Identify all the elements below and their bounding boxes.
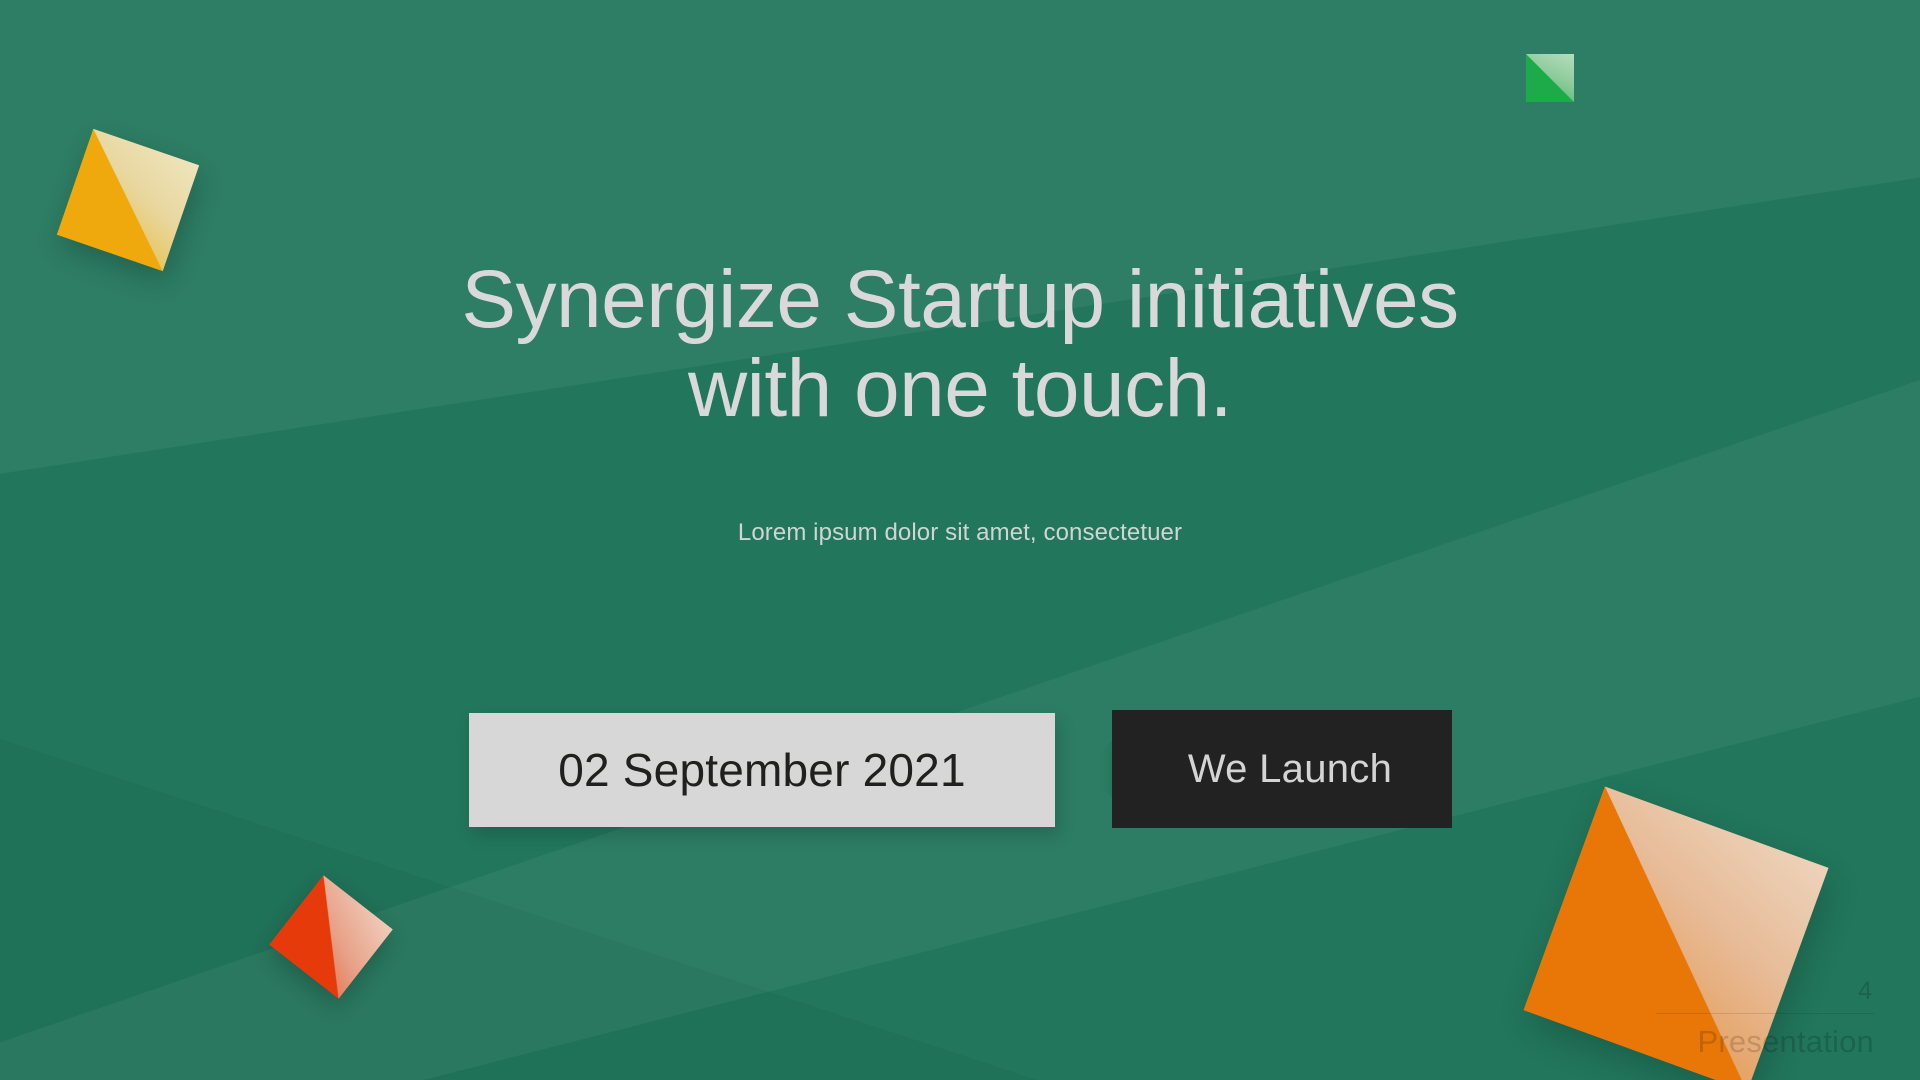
slide-page-number: 4 (1858, 977, 1872, 1006)
presentation-slide: Synergize Startup initiatives with one t… (0, 0, 1920, 1080)
footer-divider (1656, 1013, 1874, 1014)
event-date-label: 02 September 2021 (558, 743, 965, 797)
red-folded-square-icon (269, 875, 393, 999)
green-folded-square-icon (1526, 54, 1574, 102)
yellow-folded-square-icon (57, 129, 199, 271)
footer-label: Presentation (1698, 1024, 1874, 1060)
event-date-chip: 02 September 2021 (469, 713, 1055, 827)
slide-subtitle: Lorem ipsum dolor sit amet, consectetuer (410, 519, 1510, 547)
we-launch-label: We Launch (1172, 747, 1392, 792)
we-launch-tag: We Launch (1112, 710, 1452, 828)
slide-headline: Synergize Startup initiatives with one t… (290, 256, 1630, 433)
